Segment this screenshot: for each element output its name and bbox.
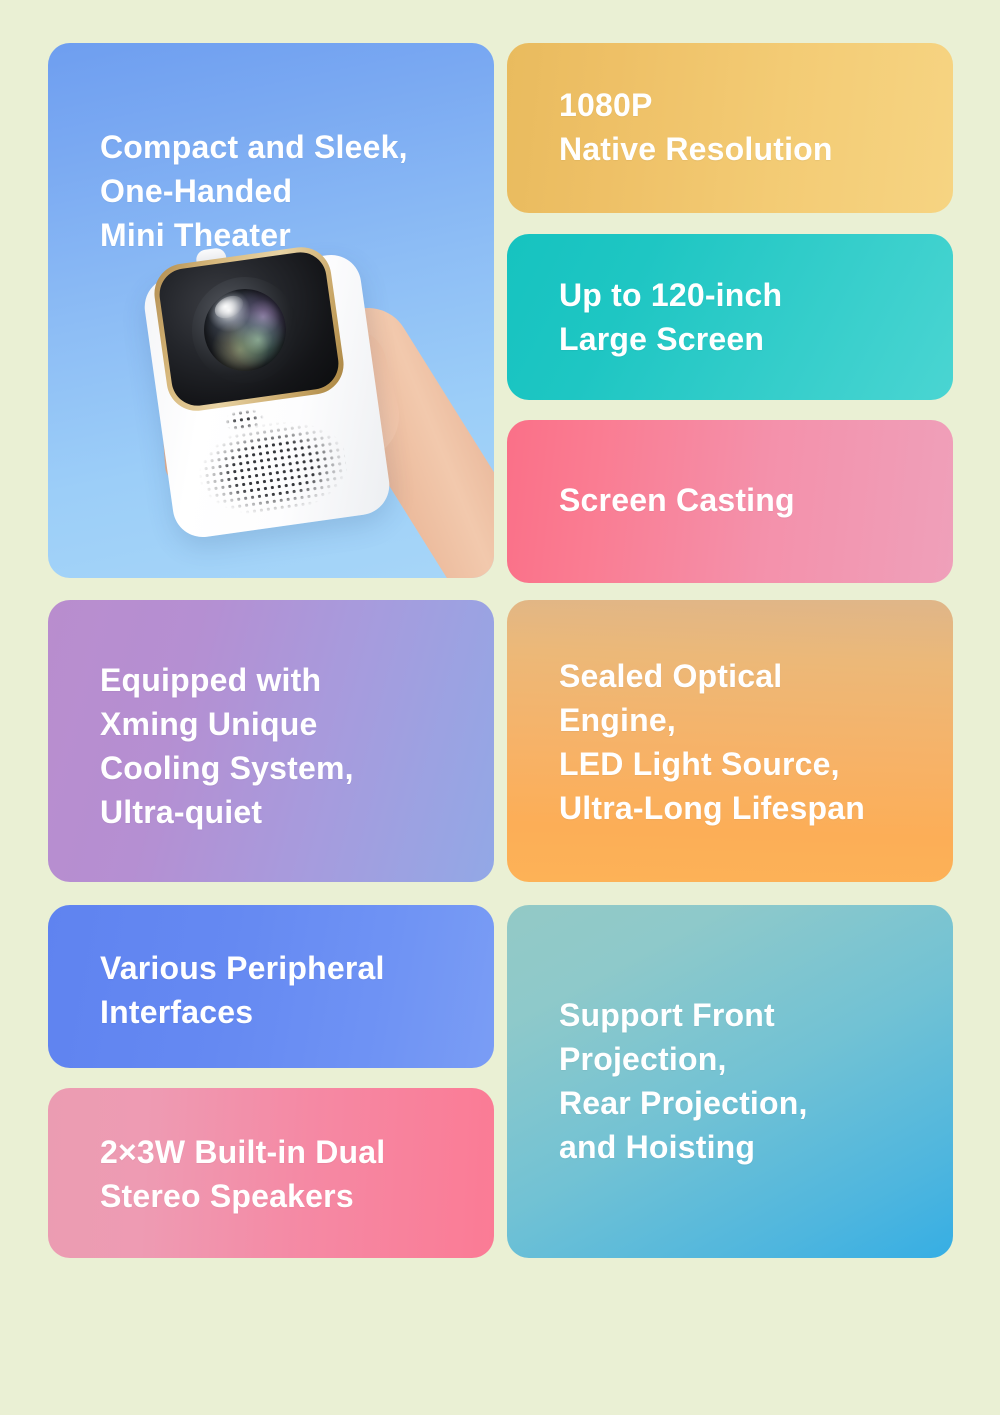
feature-card-board: Compact and Sleek, One-Handed Mini Theat… [0, 0, 1000, 1415]
compact-sleek-card[interactable]: Compact and Sleek, One-Handed Mini Theat… [48, 43, 494, 578]
card-title: Sealed Optical Engine, LED Light Source,… [559, 654, 865, 830]
cooling-system-card[interactable]: Equipped with Xming Unique Cooling Syste… [48, 600, 494, 882]
screen-casting-card[interactable]: Screen Casting [507, 420, 953, 583]
card-title: Various Peripheral Interfaces [100, 946, 385, 1034]
native-resolution-card[interactable]: 1080P Native Resolution [507, 43, 953, 213]
peripheral-interfaces-card[interactable]: Various Peripheral Interfaces [48, 905, 494, 1068]
lens-glass [204, 289, 286, 371]
stereo-speakers-card[interactable]: 2×3W Built-in Dual Stereo Speakers [48, 1088, 494, 1258]
card-title: Equipped with Xming Unique Cooling Syste… [100, 658, 354, 834]
projection-modes-card[interactable]: Support Front Projection, Rear Projectio… [507, 905, 953, 1258]
card-title: Screen Casting [559, 478, 795, 522]
large-screen-card[interactable]: Up to 120-inch Large Screen [507, 234, 953, 400]
projector-in-hand-photo [48, 43, 494, 578]
card-title: Up to 120-inch Large Screen [559, 273, 782, 361]
card-title: Support Front Projection, Rear Projectio… [559, 993, 808, 1169]
card-title: 2×3W Built-in Dual Stereo Speakers [100, 1130, 385, 1218]
card-title: Compact and Sleek, One-Handed Mini Theat… [100, 125, 408, 257]
card-title: 1080P Native Resolution [559, 83, 833, 171]
sealed-optical-engine-card[interactable]: Sealed Optical Engine, LED Light Source,… [507, 600, 953, 882]
